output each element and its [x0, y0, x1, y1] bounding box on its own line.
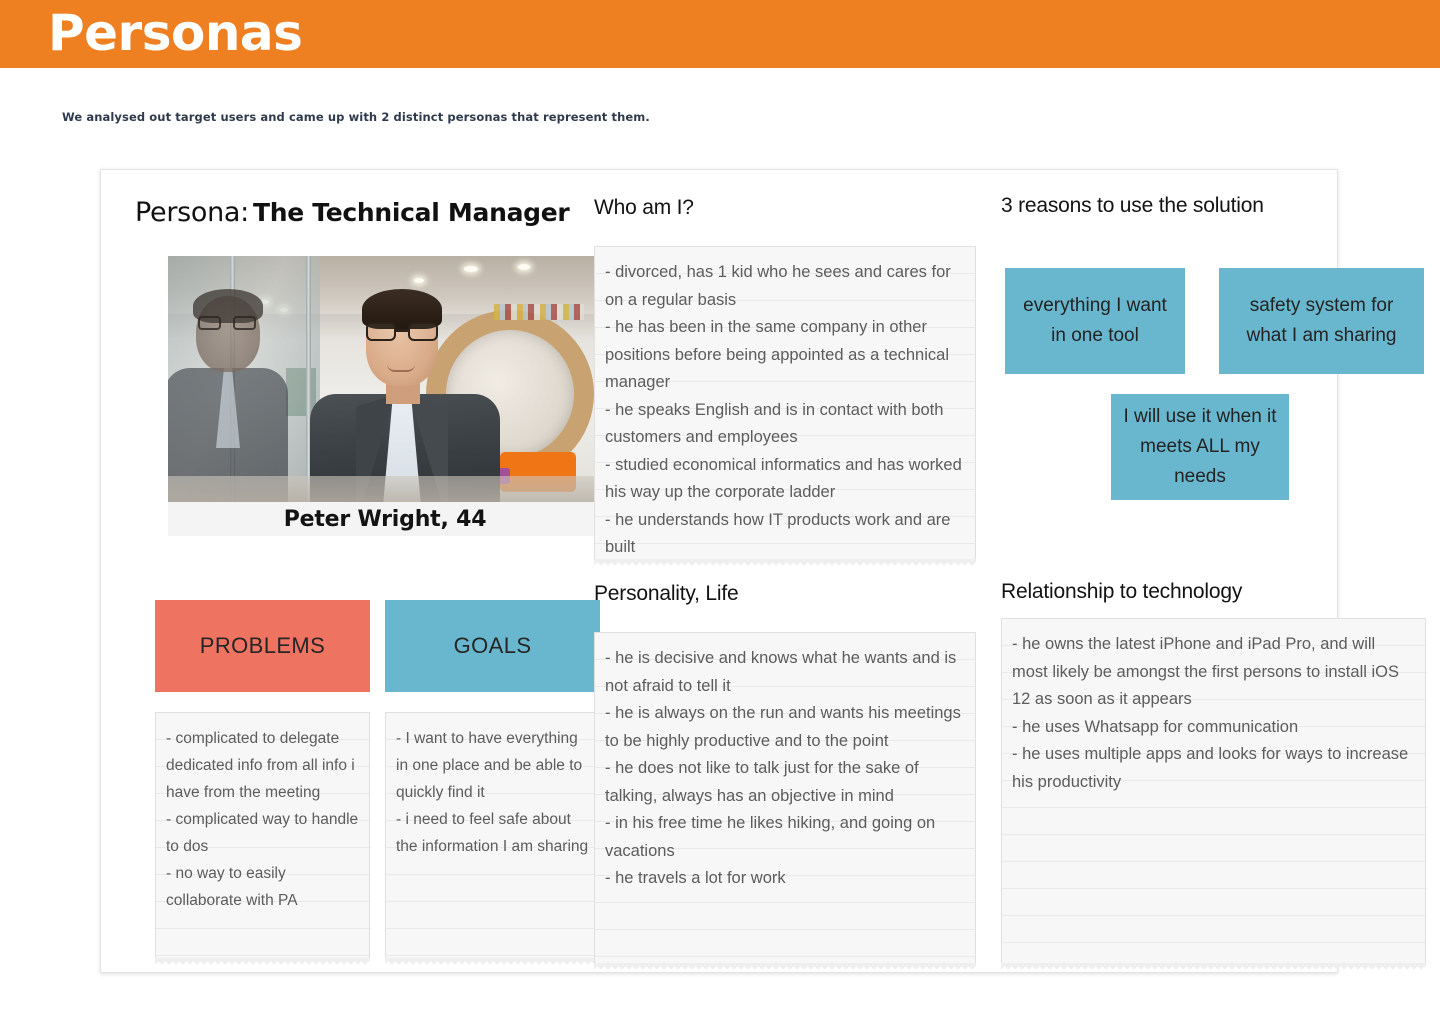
page-header-band: Personas: [0, 0, 1440, 68]
reason-sticky-note: everything I want in one tool: [1005, 268, 1185, 374]
reasons-heading: 3 reasons to use the solution: [1001, 194, 1264, 218]
persona-photo: [168, 256, 602, 502]
persona-middle-column: Who am I? - divorced, has 1 kid who he s…: [594, 170, 984, 972]
persona-headline: Persona:The Technical Manager: [135, 197, 569, 228]
persona-card: Persona:The Technical Manager: [100, 169, 1338, 973]
persona-name: The Technical Manager: [253, 198, 569, 227]
reason-sticky-note: safety system for what I am sharing: [1219, 268, 1424, 374]
relationship-heading: Relationship to technology: [1001, 580, 1242, 604]
goals-note: - I want to have everything in one place…: [385, 712, 600, 958]
reason-sticky-note: I will use it when it meets ALL my needs: [1111, 394, 1289, 500]
who-am-i-heading: Who am I?: [594, 196, 694, 220]
persona-left-column: Persona:The Technical Manager: [135, 170, 605, 972]
persona-right-column: 3 reasons to use the solution everything…: [1001, 170, 1426, 972]
page-title: Personas: [48, 4, 302, 62]
who-am-i-note: - divorced, has 1 kid who he sees and ca…: [594, 246, 976, 559]
persona-photo-block: Peter Wright, 44: [168, 256, 602, 536]
persona-label: Persona:: [135, 197, 249, 228]
relationship-note: - he owns the latest iPhone and iPad Pro…: [1001, 618, 1426, 963]
personality-heading: Personality, Life: [594, 582, 738, 606]
problems-banner: PROBLEMS: [155, 600, 370, 692]
personality-note: - he is decisive and knows what he wants…: [594, 632, 976, 963]
goals-banner: GOALS: [385, 600, 600, 692]
persona-photo-caption: Peter Wright, 44: [168, 502, 602, 536]
intro-description: We analysed out target users and came up…: [62, 110, 650, 124]
problems-note: - complicated to delegate dedicated info…: [155, 712, 370, 958]
